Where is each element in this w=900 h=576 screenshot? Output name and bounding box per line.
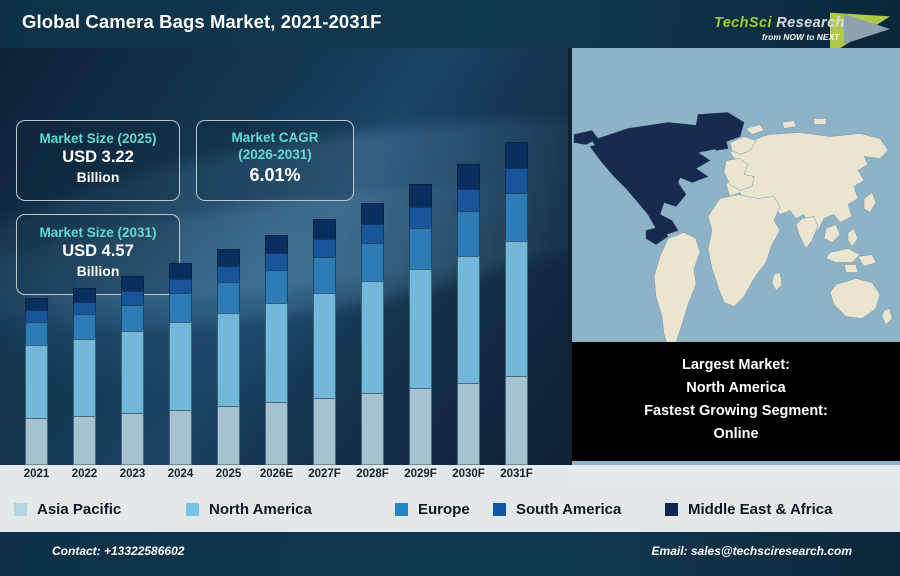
bar-segment-middle-east-africa-2022 [73, 288, 96, 301]
fastest-segment-value: Online [572, 423, 900, 446]
bar-segment-south-america-2026E [265, 253, 288, 270]
bar-segment-north-america-2031F [505, 241, 528, 376]
legend-label: South America [516, 501, 621, 518]
techsci-research-logo: TechSci Research from NOW to NEXT [710, 2, 892, 46]
bar-segment-south-america-2024 [169, 279, 192, 294]
bar-segment-asia-pacific-2031F [505, 376, 528, 465]
bar-segment-south-america-2023 [121, 291, 144, 305]
bar-segment-middle-east-africa-2026E [265, 235, 288, 253]
bar-segment-south-america-2025 [217, 266, 240, 282]
bar-segment-middle-east-africa-2030F [457, 164, 480, 188]
largest-market-value: North America [572, 377, 900, 400]
bar-segment-asia-pacific-2021 [25, 418, 48, 465]
legend-swatch-icon [186, 503, 199, 516]
logo-text-techsci: TechSci [714, 15, 772, 31]
bar-segment-north-america-2028F [361, 281, 384, 393]
bar-2031F [505, 142, 528, 465]
bar-segment-north-america-2029F [409, 269, 432, 388]
bar-segment-south-america-2028F [361, 224, 384, 244]
bar-segment-asia-pacific-2027F [313, 398, 336, 465]
bar-segment-europe-2029F [409, 228, 432, 269]
bar-segment-europe-2024 [169, 293, 192, 322]
header-bar: Global Camera Bags Market, 2021-2031F Te… [0, 0, 900, 48]
logo-arrow-gray-icon [844, 14, 890, 44]
legend-label: North America [209, 501, 312, 518]
legend-item-asia-pacific[interactable]: Asia Pacific [14, 501, 121, 518]
logo-tagline: from NOW to NEXT [762, 32, 839, 42]
bar-segment-asia-pacific-2030F [457, 383, 480, 465]
bar-segment-south-america-2027F [313, 239, 336, 257]
bar-2025 [217, 249, 240, 465]
legend-label: Europe [418, 501, 470, 518]
market-highlights-box: Largest Market: North America Fastest Gr… [572, 342, 900, 461]
bar-segment-middle-east-africa-2021 [25, 298, 48, 311]
bar-segment-south-america-2031F [505, 168, 528, 192]
bar-2021 [25, 298, 48, 465]
x-axis-tick-2024: 2024 [157, 468, 205, 480]
bar-segment-south-america-2021 [25, 310, 48, 322]
bar-segment-europe-2030F [457, 211, 480, 256]
bar-segment-europe-2023 [121, 305, 144, 332]
x-axis-tick-2021: 2021 [13, 468, 61, 480]
bar-segment-europe-2027F [313, 257, 336, 293]
bar-segment-asia-pacific-2022 [73, 416, 96, 465]
bar-segment-south-america-2030F [457, 189, 480, 211]
logo-text-research: Research [772, 15, 845, 31]
bar-segment-north-america-2023 [121, 331, 144, 413]
x-axis-tick-2026E: 2026E [253, 468, 301, 480]
x-axis-tick-2028F: 2028F [349, 468, 397, 480]
x-axis-tick-2022: 2022 [61, 468, 109, 480]
legend-item-north-america[interactable]: North America [186, 501, 312, 518]
bar-2028F [361, 203, 384, 465]
bar-segment-asia-pacific-2028F [361, 393, 384, 465]
chart-panel: Market Size (2025) USD 3.22 Billion Mark… [0, 48, 568, 465]
bar-2022 [73, 288, 96, 465]
bar-segment-asia-pacific-2023 [121, 413, 144, 465]
largest-market-label: Largest Market: [572, 354, 900, 377]
legend-label: Asia Pacific [37, 501, 121, 518]
bar-segment-north-america-2022 [73, 339, 96, 416]
x-axis-tick-2027F: 2027F [301, 468, 349, 480]
legend-label: Middle East & Africa [688, 501, 832, 518]
x-axis-tick-2023: 2023 [109, 468, 157, 480]
bar-segment-middle-east-africa-2024 [169, 263, 192, 278]
bar-segment-europe-2025 [217, 282, 240, 313]
footer-contact: Contact: +13322586602 [52, 544, 184, 558]
x-axis-tick-2029F: 2029F [397, 468, 445, 480]
x-axis-tick-2025: 2025 [205, 468, 253, 480]
bar-segment-middle-east-africa-2023 [121, 276, 144, 291]
bar-segment-europe-2021 [25, 322, 48, 345]
bar-2024 [169, 263, 192, 465]
bar-segment-asia-pacific-2026E [265, 402, 288, 465]
x-axis-tick-2030F: 2030F [445, 468, 493, 480]
bar-2027F [313, 219, 336, 465]
legend-swatch-icon [665, 503, 678, 516]
infographic-root: Global Camera Bags Market, 2021-2031F Te… [0, 0, 900, 576]
legend-swatch-icon [493, 503, 506, 516]
bar-segment-asia-pacific-2025 [217, 406, 240, 465]
bar-segment-europe-2026E [265, 270, 288, 303]
x-axis-labels: 202120222023202420252026E2027F2028F2029F… [0, 465, 568, 487]
bar-2029F [409, 184, 432, 465]
bar-segment-south-america-2029F [409, 207, 432, 228]
bar-segment-asia-pacific-2024 [169, 410, 192, 465]
bar-segment-middle-east-africa-2031F [505, 142, 528, 169]
logo-wordmark: TechSci Research [714, 15, 845, 31]
bar-segment-north-america-2026E [265, 303, 288, 402]
chart-legend: Asia PacificNorth AmericaEuropeSouth Ame… [0, 487, 900, 532]
bar-segment-north-america-2021 [25, 345, 48, 418]
legend-swatch-icon [14, 503, 27, 516]
legend-item-south-america[interactable]: South America [493, 501, 621, 518]
bar-segment-europe-2022 [73, 314, 96, 338]
bar-segment-south-america-2022 [73, 302, 96, 315]
footer-bar: Contact: +13322586602 Email: sales@techs… [0, 532, 900, 576]
page-title: Global Camera Bags Market, 2021-2031F [22, 11, 381, 33]
legend-swatch-icon [395, 503, 408, 516]
bar-segment-middle-east-africa-2025 [217, 249, 240, 266]
bar-segment-europe-2031F [505, 193, 528, 241]
legend-item-middle-east-africa[interactable]: Middle East & Africa [665, 501, 832, 518]
legend-item-europe[interactable]: Europe [395, 501, 470, 518]
bar-2026E [265, 235, 288, 465]
bar-segment-middle-east-africa-2028F [361, 203, 384, 224]
footer-email: Email: sales@techsciresearch.com [652, 544, 852, 558]
x-axis-tick-2031F: 2031F [493, 468, 541, 480]
bar-segment-middle-east-africa-2027F [313, 219, 336, 239]
bar-segment-north-america-2027F [313, 293, 336, 398]
bar-2023 [121, 276, 144, 465]
bar-segment-europe-2028F [361, 243, 384, 281]
bar-segment-asia-pacific-2029F [409, 388, 432, 465]
bar-segment-middle-east-africa-2029F [409, 184, 432, 206]
bar-segment-north-america-2025 [217, 313, 240, 407]
fastest-segment-label: Fastest Growing Segment: [572, 400, 900, 423]
bar-2030F [457, 164, 480, 465]
stacked-bar-plot [0, 48, 568, 465]
bar-segment-north-america-2024 [169, 322, 192, 410]
bar-segment-north-america-2030F [457, 256, 480, 383]
